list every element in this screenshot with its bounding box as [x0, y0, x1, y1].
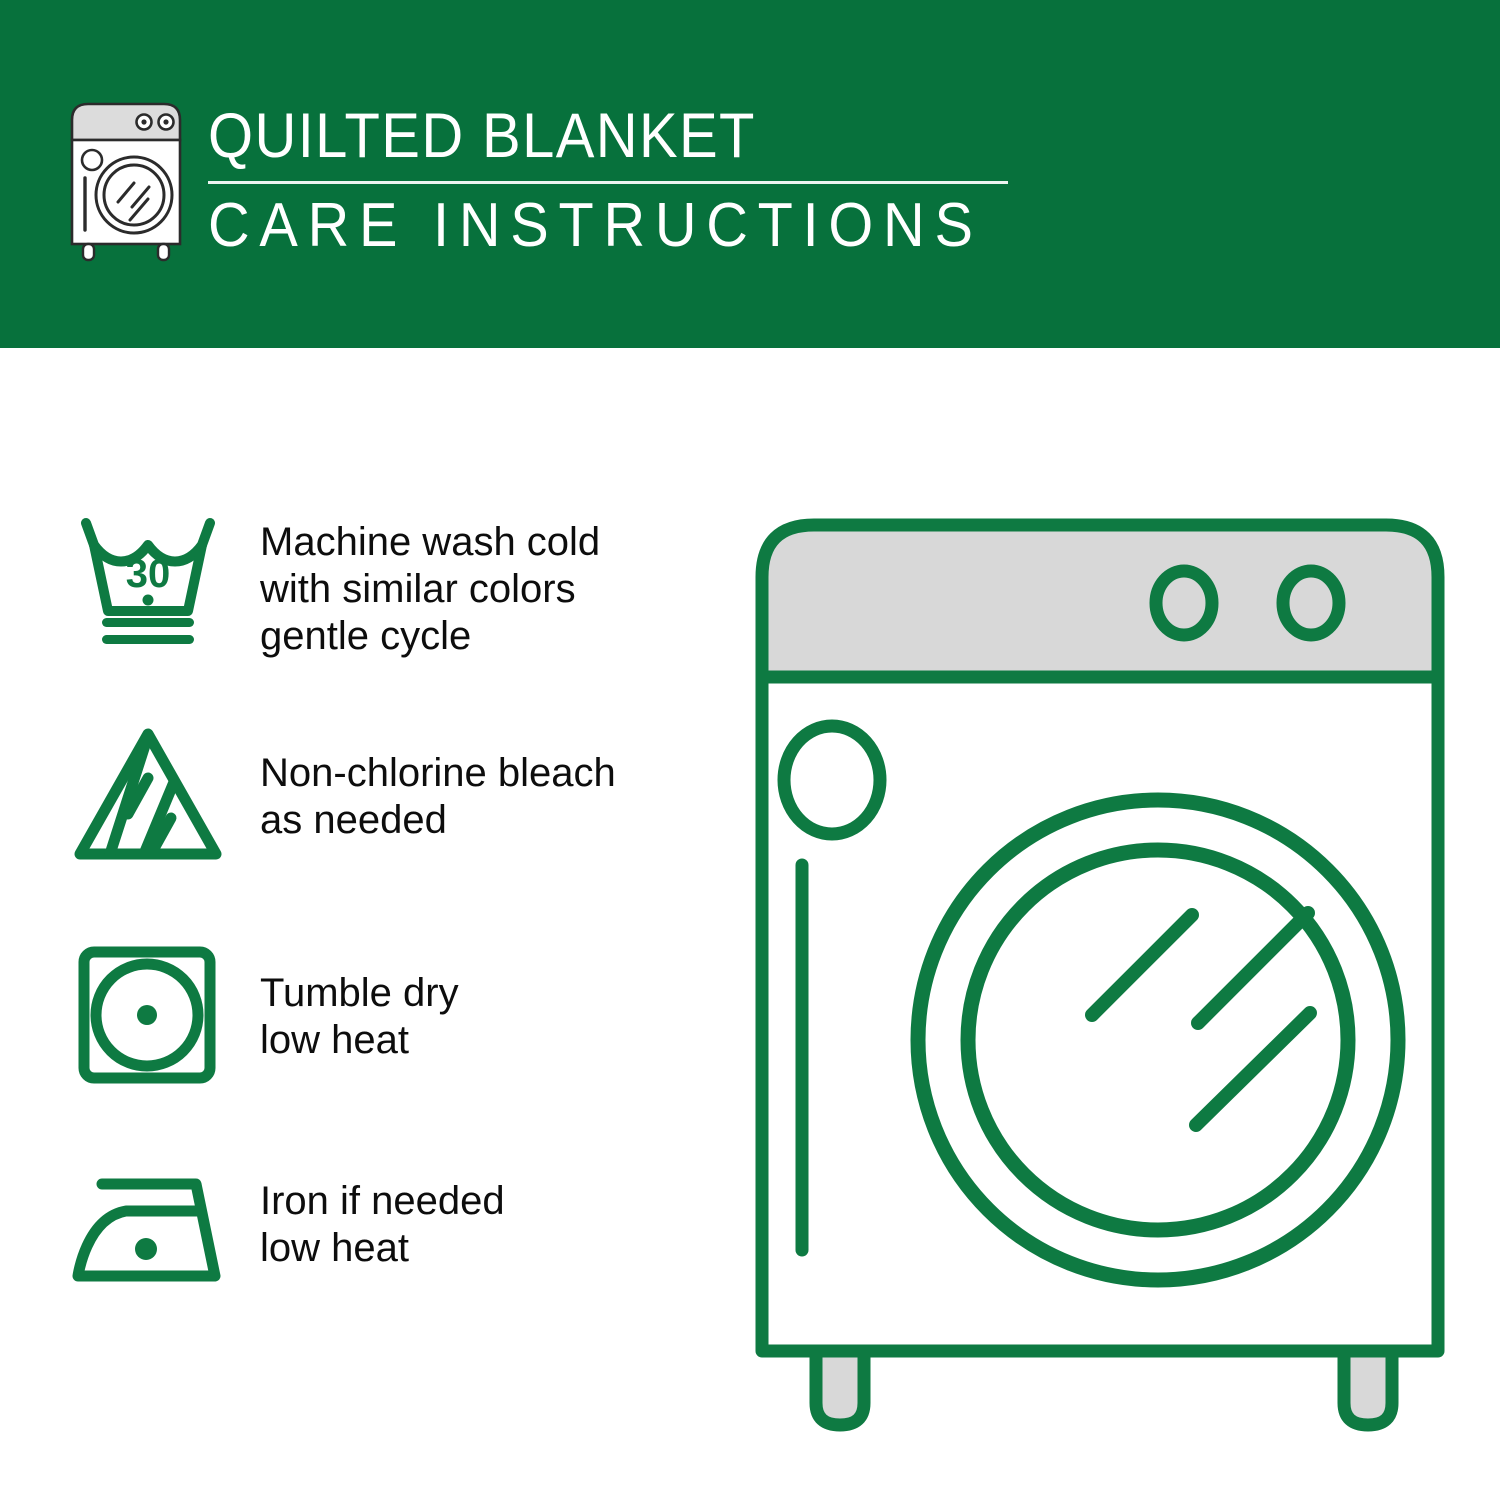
header-banner: QUILTED BLANKET CARE INSTRUCTIONS	[0, 0, 1500, 348]
care-instruction-item: Iron if needed low heat	[70, 1154, 730, 1304]
care-instruction-item: Non-chlorine bleach as needed	[70, 720, 730, 870]
care-instruction-label: Tumble dry low heat	[240, 942, 730, 1064]
care-instruction-label: Iron if needed low heat	[240, 1154, 730, 1272]
washing-machine-icon	[60, 98, 192, 266]
detergent-dial	[784, 726, 880, 834]
foot-right	[1344, 1351, 1392, 1425]
header-content: QUILTED BLANKET CARE INSTRUCTIONS	[60, 98, 1041, 266]
non-chlorine-bleach-triangle-icon	[70, 720, 240, 870]
care-instruction-label: Non-chlorine bleach as needed	[240, 720, 730, 844]
care-instruction-item: 30 Machine wash cold with similar colors…	[70, 505, 730, 660]
wash-temperature-value: 30	[126, 552, 171, 596]
care-instruction-item: Tumble dry low heat	[70, 942, 730, 1092]
iron-low-heat-icon	[70, 1154, 240, 1304]
page-title: QUILTED BLANKET	[208, 102, 974, 170]
header-title-group: QUILTED BLANKET CARE INSTRUCTIONS	[208, 98, 1041, 259]
drum-slashes	[1092, 913, 1310, 1125]
wash-tub-30-gentle-icon: 30	[70, 505, 240, 655]
tumble-dry-low-heat-icon	[70, 942, 240, 1092]
title-divider	[208, 181, 1008, 184]
front-load-washing-machine-illustration	[740, 495, 1460, 1435]
care-instruction-label: Machine wash cold with similar colors ge…	[240, 505, 730, 660]
drum-outer	[918, 800, 1398, 1280]
care-instruction-list: 30 Machine wash cold with similar colors…	[70, 505, 730, 1364]
foot-left	[816, 1351, 864, 1425]
page-subtitle: CARE INSTRUCTIONS	[208, 193, 983, 259]
